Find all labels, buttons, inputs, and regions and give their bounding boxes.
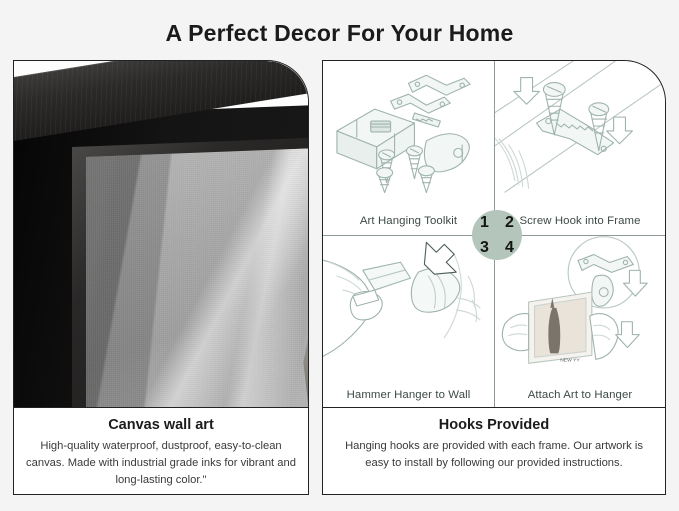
left-caption-title: Canvas wall art [26,417,296,433]
step-1-caption: Art Hanging Toolkit [323,215,494,227]
hands-artwork-hanger-icon: NEW YY Attach Art to Hanger [494,235,665,409]
svg-text:NEW YY: NEW YY [560,357,580,363]
step-2-cell: Screw Hook into Frame [494,61,665,235]
screw-hook-frame-icon [495,61,665,193]
step-2-caption: Screw Hook into Frame [495,215,665,227]
step-1-cell: Art Hanging Toolkit [323,61,494,235]
canvas-wall-art-panel: Canvas wall art High-quality waterproof,… [13,60,309,495]
left-caption-body: High-quality waterproof, dustproof, easy… [26,438,296,489]
step-number-badge: 1 2 3 4 [472,210,522,260]
step-3-caption: Hammer Hanger to Wall [323,389,494,401]
product-infographic: A Perfect Decor For Your Home Canvas wal… [0,0,679,511]
canvas-product-photo [14,61,308,409]
left-caption-box: Canvas wall art High-quality waterproof,… [14,407,308,494]
right-caption-box: Hooks Provided Hanging hooks are provide… [323,407,665,494]
badge-number-1: 1 [480,215,489,231]
hooks-provided-panel: Art Hanging Toolkit [322,60,666,495]
page-title: A Perfect Decor For Your Home [0,20,679,47]
instruction-steps-grid: Art Hanging Toolkit [323,61,665,409]
badge-number-3: 3 [480,240,489,256]
badge-number-4: 4 [505,240,514,256]
badge-number-2: 2 [505,215,514,231]
canvas-print-artwork [86,147,308,409]
right-caption-title: Hooks Provided [335,417,653,433]
canvas-weave-texture [86,147,308,409]
toolbox-brackets-screws-icon [323,61,494,193]
right-caption-body: Hanging hooks are provided with each fra… [335,438,653,472]
hand-hammer-hanger-wall-icon: Hammer Hanger to Wall [323,235,494,409]
step-4-caption: Attach Art to Hanger [495,389,665,401]
